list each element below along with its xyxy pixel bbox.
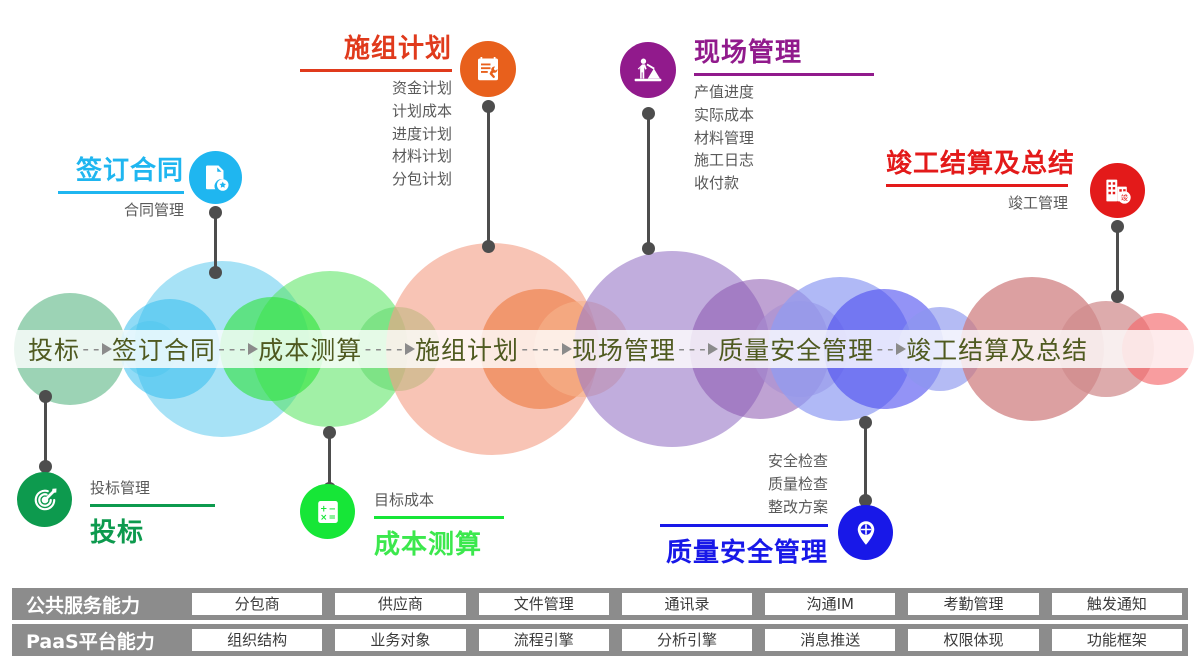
callout-cost[interactable]: 目标成本 成本测算 [374,489,504,561]
target-dart-icon[interactable] [17,472,72,527]
flow-step-cost[interactable]: 成本测算 [258,331,362,367]
knob-site-bottom [642,242,655,255]
cap-cell-business-object[interactable]: 业务对象 [335,629,465,651]
svg-text:竣: 竣 [1121,193,1128,202]
callout-completion[interactable]: 竣工结算及总结 竣工管理 [886,143,1068,213]
knob-quality-top [859,416,872,429]
callout-site-title: 现场管理 [694,32,874,69]
flow-step-bidding[interactable]: 投标 [28,331,80,367]
cap-cell-subcontractor[interactable]: 分包商 [192,593,322,615]
capability-cells-paas: 组织结构 业务对象 流程引擎 分析引擎 消息推送 权限体现 功能框架 [192,629,1188,651]
site-item-0: 产值进度 [694,81,874,104]
stem-site [647,113,650,248]
callout-contract-title: 签订合同 [58,150,184,187]
cap-cell-function-framework[interactable]: 功能框架 [1052,629,1182,651]
knob-contract-top [209,206,222,219]
stem-cost [328,432,331,488]
stem-contract [214,212,217,272]
diagram-canvas: 投标 -- 签订合同 --- 成本测算 ---- 施组计划 ---- 现场管理 … [0,0,1200,666]
flow-arrow-1: -- [80,340,112,359]
flow-step-contract[interactable]: 签订合同 [112,331,216,367]
svg-text:×: × [320,513,327,523]
cap-cell-file-management[interactable]: 文件管理 [479,593,609,615]
callout-contract[interactable]: 签订合同 合同管理 [58,150,184,220]
cap-cell-trigger-notification[interactable]: 触发通知 [1052,593,1182,615]
site-item-1: 实际成本 [694,104,874,127]
location-pin-crosshair-icon[interactable] [838,505,893,560]
plan-item-1: 计划成本 [300,100,452,123]
document-seal-icon[interactable] [189,151,242,204]
cap-cell-im[interactable]: 沟通IM [765,593,895,615]
callout-plan-title: 施组计划 [300,28,452,65]
callout-completion-rule [886,184,1068,187]
process-flow: 投标 -- 签订合同 --- 成本测算 ---- 施组计划 ---- 现场管理 … [0,330,1200,368]
cap-cell-message-push[interactable]: 消息推送 [765,629,895,651]
callout-bidding-rule [90,504,215,507]
flow-arrow-3: ---- [362,340,415,359]
callout-quality-items: 安全检查 质量检查 整改方案 [660,450,828,518]
capability-label-public-service: 公共服务能力 [12,591,192,618]
callout-bidding-sub: 投标管理 [90,477,215,498]
callout-quality[interactable]: 安全检查 质量检查 整改方案 质量安全管理 [660,450,828,569]
flow-arrow-6: -- [874,340,906,359]
knob-contract-bottom [209,266,222,279]
knob-plan-bottom [482,240,495,253]
cap-cell-org-structure[interactable]: 组织结构 [192,629,322,651]
callout-quality-rule [660,524,828,527]
cap-cell-analytics-engine[interactable]: 分析引擎 [622,629,752,651]
callout-site-rule [694,73,874,76]
worker-excavator-icon[interactable] [620,42,676,98]
quality-item-2: 整改方案 [660,496,828,519]
stem-bidding [44,396,47,466]
flow-step-quality[interactable]: 质量安全管理 [718,331,874,367]
site-item-3: 施工日志 [694,149,874,172]
callout-bidding[interactable]: 投标管理 投标 [90,477,215,549]
stem-plan [487,106,490,246]
knob-completion-top [1111,220,1124,233]
callout-completion-sub: 竣工管理 [886,192,1068,213]
cap-cell-contacts[interactable]: 通讯录 [622,593,752,615]
quality-item-0: 安全检查 [660,450,828,473]
callout-site-items: 产值进度 实际成本 材料管理 施工日志 收付款 [694,81,874,195]
knob-plan-top [482,100,495,113]
callout-plan[interactable]: 施组计划 资金计划 计划成本 进度计划 材料计划 分包计划 [300,28,452,191]
cap-cell-process-engine[interactable]: 流程引擎 [479,629,609,651]
knob-bidding-top [39,390,52,403]
flow-step-completion[interactable]: 竣工结算及总结 [906,331,1088,367]
callout-bidding-title: 投标 [90,512,215,549]
flow-step-site[interactable]: 现场管理 [572,331,676,367]
flow-step-plan[interactable]: 施组计划 [415,331,519,367]
cap-cell-permissions[interactable]: 权限体现 [908,629,1038,651]
callout-contract-rule [58,191,184,194]
capability-cells-public-service: 分包商 供应商 文件管理 通讯录 沟通IM 考勤管理 触发通知 [192,593,1188,615]
callout-cost-title: 成本测算 [374,524,504,561]
stem-quality [864,422,867,500]
knob-cost-top [323,426,336,439]
knob-completion-bottom [1111,290,1124,303]
callout-cost-rule [374,516,504,519]
knob-site-top [642,107,655,120]
flow-arrow-5: --- [676,340,718,359]
stem-completion [1116,226,1119,296]
flow-arrow-4: ---- [519,340,572,359]
callout-contract-sub: 合同管理 [58,199,184,220]
cap-cell-supplier[interactable]: 供应商 [335,593,465,615]
building-badge-icon[interactable]: 竣 [1090,163,1145,218]
capability-bar-public-service: 公共服务能力 分包商 供应商 文件管理 通讯录 沟通IM 考勤管理 触发通知 [12,588,1188,620]
flow-arrow-2: --- [216,340,258,359]
capability-label-paas: PaaS平台能力 [12,627,192,654]
plan-item-3: 材料计划 [300,145,452,168]
callout-plan-rule [300,69,452,72]
plan-item-0: 资金计划 [300,77,452,100]
clipboard-wrench-icon[interactable] [460,41,516,97]
capability-bar-paas: PaaS平台能力 组织结构 业务对象 流程引擎 分析引擎 消息推送 权限体现 功… [12,624,1188,656]
callout-quality-title: 质量安全管理 [660,532,828,569]
callout-cost-sub: 目标成本 [374,489,504,510]
cap-cell-attendance[interactable]: 考勤管理 [908,593,1038,615]
callout-site[interactable]: 现场管理 产值进度 实际成本 材料管理 施工日志 收付款 [694,32,874,195]
svg-text:=: = [328,513,335,523]
callout-plan-items: 资金计划 计划成本 进度计划 材料计划 分包计划 [300,77,452,191]
calculator-icon[interactable]: +−×= [300,484,355,539]
plan-item-4: 分包计划 [300,168,452,191]
site-item-4: 收付款 [694,172,874,195]
quality-item-1: 质量检查 [660,473,828,496]
callout-completion-title: 竣工结算及总结 [886,143,1068,180]
site-item-2: 材料管理 [694,127,874,150]
plan-item-2: 进度计划 [300,123,452,146]
